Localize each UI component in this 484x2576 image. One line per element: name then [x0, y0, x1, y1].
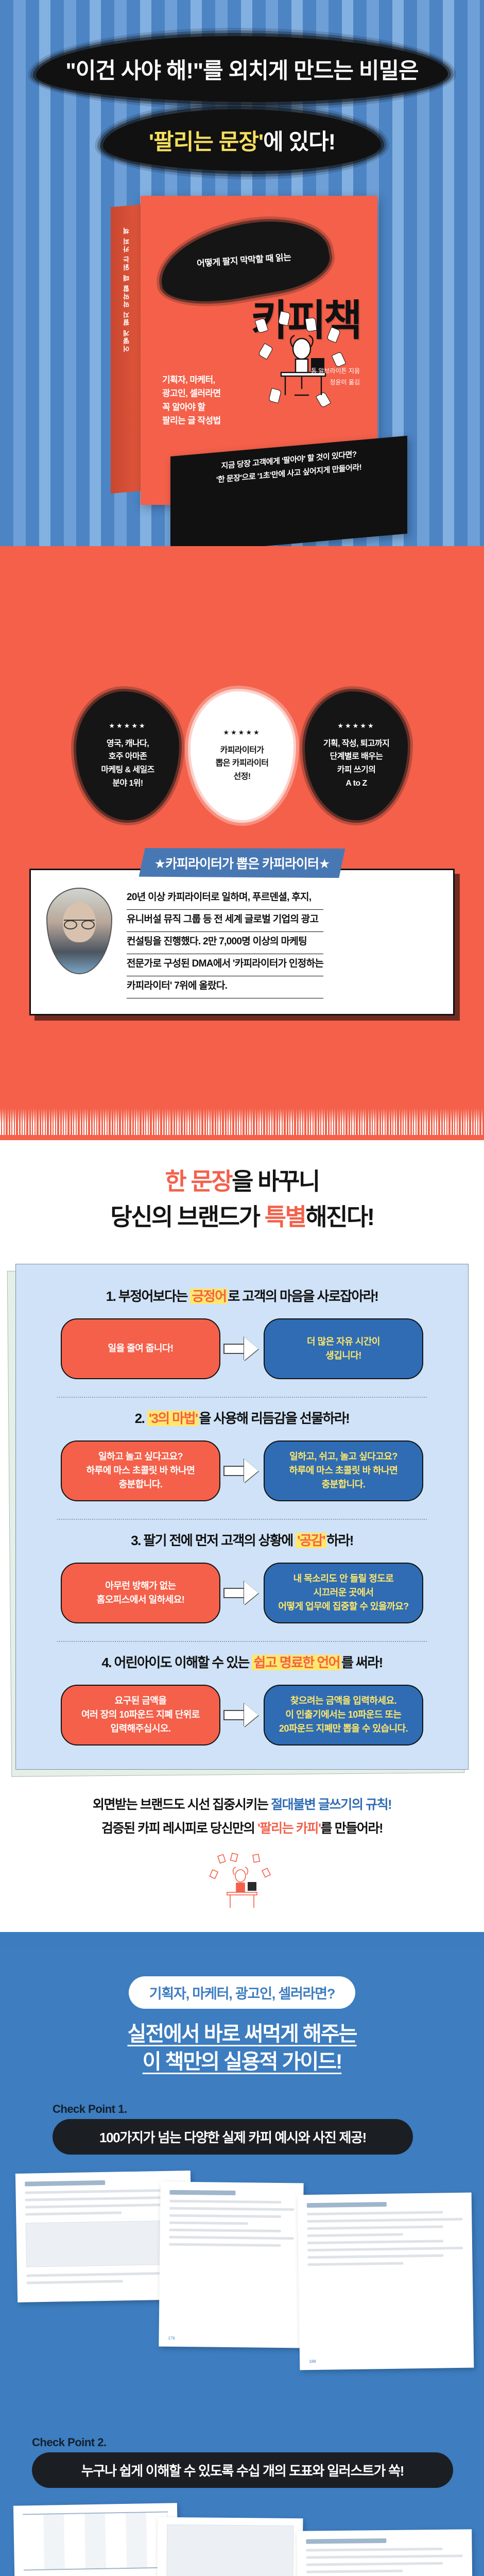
guide-headline: 실전에서 바로 써먹게 해주는 이 책만의 실용적 가이드!: [0, 2020, 484, 2076]
rule-title-pre-3: 팔기 전에 먼저 고객의 상황에: [143, 1533, 296, 1548]
checkpoint-2-screenshots: 06 · 돋보이게 하는 카피의 비밀 12 332: [0, 2500, 484, 2576]
torn-edge-divider: [0, 1108, 484, 1135]
author-bio-line: 컨설팅을 진행했다. 2만 7,000명 이상의 마케팅: [127, 932, 323, 954]
checkpoint-1-bar: 100가지가 넘는 다양한 실제 카피 예시와 사진 제공!: [53, 2119, 413, 2155]
author-ribbon: ★카피라이터가 뽑은 카피라이터★: [139, 848, 345, 878]
author-bio-line: 전문가로 구성된 DMA에서 '카피라이터가 인정하는: [127, 954, 323, 976]
author-photo: [46, 888, 112, 974]
closing-line-2-post: 를 만들어라!: [321, 1821, 383, 1836]
mini-worker-illustration: [209, 1852, 275, 1911]
torn-edge-top: [0, 1932, 484, 1958]
guide-headline-line-1: 실전에서 바로 써먹게 해주는: [128, 2023, 357, 2045]
hero-line-2: '팔리는 문장'에 있다!: [149, 124, 335, 156]
checkpoint-1-label: Check Point 1.: [53, 2103, 484, 2116]
guide-headline-line-2: 이 책만의 실용적 가이드!: [143, 2050, 342, 2073]
headline-pre-2: 당신의 브랜드가: [110, 1204, 264, 1230]
rule-item-1: 1. 부정어보다는 긍정어로 고객의 마음을 사로잡아라! 일을 줄여 줍니다!…: [37, 1280, 447, 1382]
badge-copywriter-pick: ★★★★★ 카피라이터가뽑은 카피라이터선정!: [191, 691, 293, 820]
arrow-right-icon: [223, 1703, 261, 1727]
checkpoint-2-bar: 누구나 쉽게 이해할 수 있도록 수십 개의 도표와 일러스트가 쏙!: [32, 2452, 453, 2488]
hero-line-2-rest: 에 있다!: [263, 130, 335, 155]
book-cover-subtitle: 기획자, 마케터,광고인, 셀러라면꼭 알아야 할팔리는 글 작성법: [162, 374, 221, 428]
rule-title-post-1: 로 고객의 마음을 사로잡아라!: [228, 1289, 378, 1304]
rule-title-post-3: 하라!: [326, 1533, 353, 1548]
badge-text: 영국, 캐나다,호주 아마존마케팅 & 세일즈분야 1위!: [101, 737, 154, 790]
rule-number-4: 4.: [101, 1655, 111, 1670]
rule-title-4: 4. 어린아이도 이해할 수 있는 쉽고 명료한 언어를 써라!: [37, 1652, 447, 1671]
book-page-shot: 176: [159, 2181, 303, 2348]
author-bio-line: 20년 이상 카피라이터로 일하며, 푸르덴셜, 후지,: [127, 888, 323, 910]
headline-red-2: 특별: [265, 1204, 306, 1230]
rule-after-3: 내 목소리도 안 들릴 정도로시끄러운 곳에서어떻게 업무에 집중할 수 있을까…: [264, 1563, 423, 1623]
headline-rest-1: 을 바꾸니: [232, 1168, 319, 1195]
hero-scribble-band-2: '팔리는 문장'에 있다!: [103, 109, 381, 171]
rule-after-4: 찾으려는 금액을 입력하세요.이 인출기에서는 10파운드 또는20파운드 지폐…: [264, 1685, 423, 1745]
book-page-shot: 332: [297, 2529, 474, 2576]
headline-red-1: 한 문장: [165, 1168, 232, 1195]
book-cover-curve-title-text: 어떻게 팔지 막막할 때 읽는: [188, 251, 300, 270]
rule-number-2: 2.: [135, 1411, 144, 1426]
guide-pill-wrap: 기획자, 마케터, 광고인, 셀러라면?: [0, 1976, 484, 2009]
rule-pair-2: 일하고 놀고 싶다고요?하루에 마스 초콜릿 바 하나면충분합니다. 일하고, …: [37, 1440, 447, 1501]
practical-guide-section: 기획자, 마케터, 광고인, 셀러라면? 실전에서 바로 써먹게 해주는 이 책…: [0, 1932, 484, 2576]
badge-text: 카피라이터가뽑은 카피라이터선정!: [216, 744, 269, 784]
rule-title-post-2: 을 사용해 리듬감을 선물하라!: [199, 1411, 349, 1426]
glasses-icon: [64, 920, 95, 927]
badge-row: ★★★★★ 영국, 캐나다,호주 아마존마케팅 & 세일즈분야 1위! ★★★★…: [0, 678, 484, 841]
arrow-right-icon: [223, 1581, 261, 1605]
book-author-name: 톰 알브라이튼 지음: [311, 366, 360, 377]
rule-title-pre-4: 어린아이도 이해할 수 있는: [114, 1655, 252, 1670]
page-number: 188: [309, 2359, 316, 2364]
arrow-right-icon: [223, 1337, 261, 1361]
closing-line-2-pre: 검증된 카피 레시피로 당신만의: [101, 1821, 257, 1836]
author-bio-text: 20년 이상 카피라이터로 일하며, 푸르덴셜, 후지, 유니버설 뮤직 그룹 …: [127, 888, 323, 998]
rule-separator: [57, 1641, 427, 1642]
rule-title-pre-1: 부정어보다는: [118, 1289, 191, 1304]
rule-pair-1: 일을 줄여 줍니다! 더 많은 자유 시간이생깁니다!: [37, 1318, 447, 1379]
badge-stars-icon: ★★★★★: [337, 722, 375, 730]
rule-pair-4: 요구된 금액을여러 장의 10파운드 지폐 단위로입력해주십시오. 찾으려는 금…: [37, 1685, 447, 1745]
checkpoint-1: Check Point 1. 100가지가 넘는 다양한 실제 카피 예시와 사…: [0, 2103, 484, 2409]
closing-line-1: 외면받는 브랜드도 시선 집중시키는 절대불변 글쓰기의 규칙!: [0, 1794, 484, 1815]
hero-section: "이건 사야 해!"를 외치게 만드는 비밀은 '팔리는 문장'에 있다! 어떻…: [0, 0, 484, 546]
book-cover-mockup: 어떻게 팔지 막막할 때 읽는 카피 책 어떻게 팔지 막막할 때 읽는 카피책: [111, 196, 378, 505]
coral-highlight-section: ★★★★★ 영국, 캐나다,호주 아마존마케팅 & 세일즈분야 1위! ★★★★…: [0, 546, 484, 1140]
badge-amazon-rank: ★★★★★ 영국, 캐나다,호주 아마존마케팅 & 세일즈분야 1위!: [76, 691, 179, 820]
rule-title-1: 1. 부정어보다는 긍정어로 고객의 마음을 사로잡아라!: [37, 1286, 447, 1305]
book-obi-belt: 지금 당장 고객에게 '팔아야' 할 것이 있다면? '한 문장'으로 '1초'…: [170, 436, 407, 546]
rules-section: 한 문장을 바꾸니 당신의 브랜드가 특별해진다! 1. 부정어보다는 긍정어로…: [0, 1140, 484, 1932]
rule-title-post-4: 를 써라!: [341, 1655, 383, 1670]
rule-title-mark-3: '공감': [296, 1533, 326, 1548]
main-headline-line-1: 한 문장을 바꾸니: [0, 1164, 484, 1199]
closing-line-1-pre: 외면받는 브랜드도 시선 집중시키는: [93, 1798, 271, 1812]
book-front-cover: 어떻게 팔지 막막할 때 읽는 카피책: [141, 196, 377, 505]
main-headline-line-2: 당신의 브랜드가 특별해진다!: [0, 1199, 484, 1235]
guide-pill: 기획자, 마케터, 광고인, 셀러라면?: [129, 1976, 355, 2009]
rule-title-2: 2. '3의 마법'을 사용해 리듬감을 선물하라!: [37, 1408, 447, 1427]
badge-stars-icon: ★★★★★: [109, 722, 146, 730]
slide-body: 1. 부정어보다는 긍정어로 고객의 마음을 사로잡아라! 일을 줄여 줍니다!…: [15, 1264, 469, 1770]
rule-after-1: 더 많은 자유 시간이생깁니다!: [264, 1318, 423, 1379]
closing-line-2: 검증된 카피 레시피로 당신만의 '팔리는 카피'를 만들어라!: [0, 1818, 484, 1839]
book-page-shot: 06 · 돋보이게 하는 카피의 비밀: [13, 2503, 179, 2576]
closing-line-1-blue: 절대불변 글쓰기의 규칙!: [271, 1798, 391, 1812]
rule-title-mark-1: 긍정어: [190, 1289, 228, 1304]
badge-text: 기획, 작성, 퇴고까지단계별로 배우는카피 쓰기의A to Z: [323, 737, 389, 790]
rule-pair-3: 아무런 방해가 없는홈오피스에서 일하세요! 내 목소리도 안 들릴 정도로시끄…: [37, 1563, 447, 1623]
book-page-shot: 188: [298, 2192, 474, 2370]
checkpoint-2-label: Check Point 2.: [32, 2436, 484, 2449]
rule-item-3: 3. 팔기 전에 먼저 고객의 상황에 '공감'하라! 아무런 방해가 없는홈오…: [37, 1524, 447, 1626]
checkpoint-2: Check Point 2. 누구나 쉽게 이해할 수 있도록 수십 개의 도표…: [0, 2436, 484, 2576]
closing-line-2-red: '팔리는 카피': [257, 1821, 321, 1836]
rule-title-mark-4: 쉽고 명료한 언어: [252, 1655, 341, 1670]
author-bio-line: 카피라이터' 7위에 올랐다.: [127, 976, 323, 998]
rule-before-1: 일을 줄여 줍니다!: [61, 1318, 220, 1379]
rule-item-4: 4. 어린아이도 이해할 수 있는 쉽고 명료한 언어를 써라! 요구된 금액을…: [37, 1646, 447, 1749]
book-spine-text: 어떻게 팔지 막막할 때 읽는 카피 책: [122, 226, 132, 352]
badge-stars-icon: ★★★★★: [223, 728, 261, 737]
rule-number-3: 3.: [131, 1533, 140, 1548]
rule-after-2: 일하고, 쉬고, 놀고 싶다고요?하루에 마스 초콜릿 바 하나면충분합니다.: [264, 1440, 423, 1501]
book-page-shot: 12: [157, 2517, 303, 2576]
rule-before-3: 아무런 방해가 없는홈오피스에서 일하세요!: [61, 1563, 220, 1623]
page-number: 176: [168, 2335, 175, 2340]
hero-line-2-highlight: '팔리는 문장': [149, 130, 263, 155]
stressed-worker-illustration: [256, 317, 349, 407]
rule-number-1: 1.: [106, 1289, 115, 1304]
rule-before-4: 요구된 금액을여러 장의 10파운드 지폐 단위로입력해주십시오.: [61, 1685, 220, 1745]
book-spine: 어떻게 팔지 막막할 때 읽는 카피 책: [111, 205, 143, 494]
book-translator-name: 정윤미 옮김: [311, 377, 360, 388]
hero-scribble-band-1: "이건 사야 해!"를 외치게 만드는 비밀은: [36, 36, 448, 102]
badge-atoz: ★★★★★ 기획, 작성, 퇴고까지단계별로 배우는카피 쓰기의A to Z: [305, 691, 408, 820]
headline-post-2: 해진다!: [305, 1204, 373, 1230]
main-headline: 한 문장을 바꾸니 당신의 브랜드가 특별해진다!: [0, 1164, 484, 1235]
arrow-right-icon: [223, 1459, 261, 1483]
author-bio-line: 유니버설 뮤직 그룹 등 전 세계 글로벌 기업의 광고: [127, 910, 323, 932]
rule-item-2: 2. '3의 마법'을 사용해 리듬감을 선물하라! 일하고 놀고 싶다고요?하…: [37, 1402, 447, 1504]
closing-message: 외면받는 브랜드도 시선 집중시키는 절대불변 글쓰기의 규칙! 검증된 카피 …: [0, 1794, 484, 1911]
rule-separator: [57, 1397, 427, 1398]
rule-title-3: 3. 팔기 전에 먼저 고객의 상황에 '공감'하라!: [37, 1530, 447, 1549]
rule-before-2: 일하고 놀고 싶다고요?하루에 마스 초콜릿 바 하나면충분합니다.: [61, 1440, 220, 1501]
rule-separator: [57, 1519, 427, 1520]
checkpoint-1-screenshots: 176 188: [0, 2167, 484, 2409]
hero-line-1: "이건 사야 해!"를 외치게 만드는 비밀은: [65, 53, 418, 85]
rules-slide: 1. 부정어보다는 긍정어로 고객의 마음을 사로잡아라! 일을 줄여 줍니다!…: [15, 1264, 469, 1770]
author-profile-card: 20년 이상 카피라이터로 일하며, 푸르덴셜, 후지, 유니버설 뮤직 그룹 …: [29, 869, 455, 1015]
book-cover-author: 톰 알브라이튼 지음 정윤미 옮김: [311, 366, 360, 388]
rule-title-mark-2: '3의 마법': [147, 1411, 199, 1426]
